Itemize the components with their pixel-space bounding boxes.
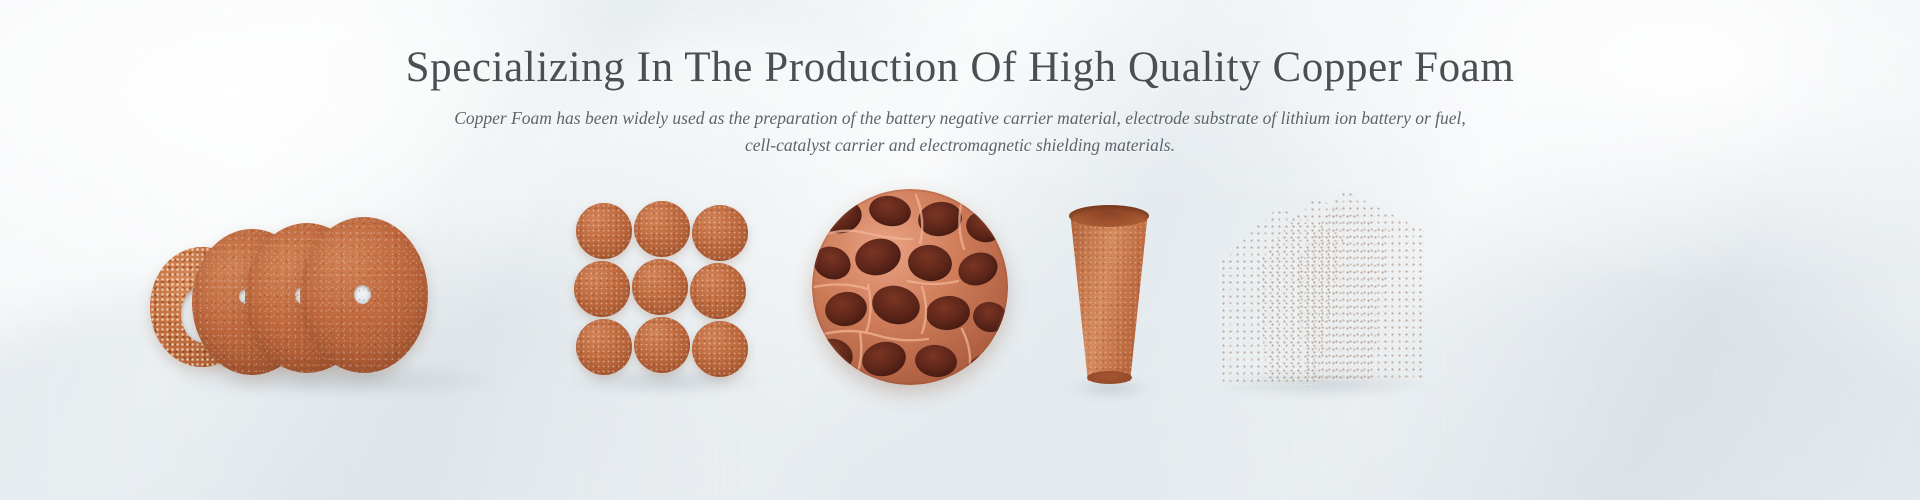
grid-disc xyxy=(690,263,746,319)
grid-disc xyxy=(632,259,688,315)
product-foam-cone xyxy=(1063,201,1155,387)
banner-text-block: Specializing In The Production Of High Q… xyxy=(0,0,1920,158)
disc-center-hole xyxy=(354,285,371,304)
grid-disc xyxy=(574,261,630,317)
product-foam-sheets xyxy=(1218,189,1428,387)
cone-bottom xyxy=(1087,371,1132,384)
product-image-row xyxy=(0,185,1920,500)
cone-body xyxy=(1063,215,1155,381)
grid-disc xyxy=(576,319,632,375)
foam-disc-1 xyxy=(300,217,428,373)
grid-disc xyxy=(692,321,748,377)
banner-headline: Specializing In The Production Of High Q… xyxy=(0,0,1920,91)
cone-opening xyxy=(1069,205,1149,227)
grid-disc xyxy=(634,201,690,257)
product-foam-discs-group xyxy=(150,195,550,395)
copper-foam-banner: Specializing In The Production Of High Q… xyxy=(0,0,1920,500)
banner-subtitle-line-2: cell-catalyst carrier and electromagneti… xyxy=(430,132,1490,159)
grid-disc xyxy=(634,317,690,373)
banner-subtitle-line-1: Copper Foam has been widely used as the … xyxy=(430,105,1490,132)
banner-subtitle: Copper Foam has been widely used as the … xyxy=(430,105,1490,158)
pore-structure-graphic xyxy=(812,189,1008,385)
grid-disc xyxy=(692,205,748,261)
product-pore-structure-closeup xyxy=(812,189,1008,385)
disc-group-shadow xyxy=(170,363,500,397)
product-disc-grid xyxy=(572,199,762,389)
grid-disc xyxy=(576,203,632,259)
